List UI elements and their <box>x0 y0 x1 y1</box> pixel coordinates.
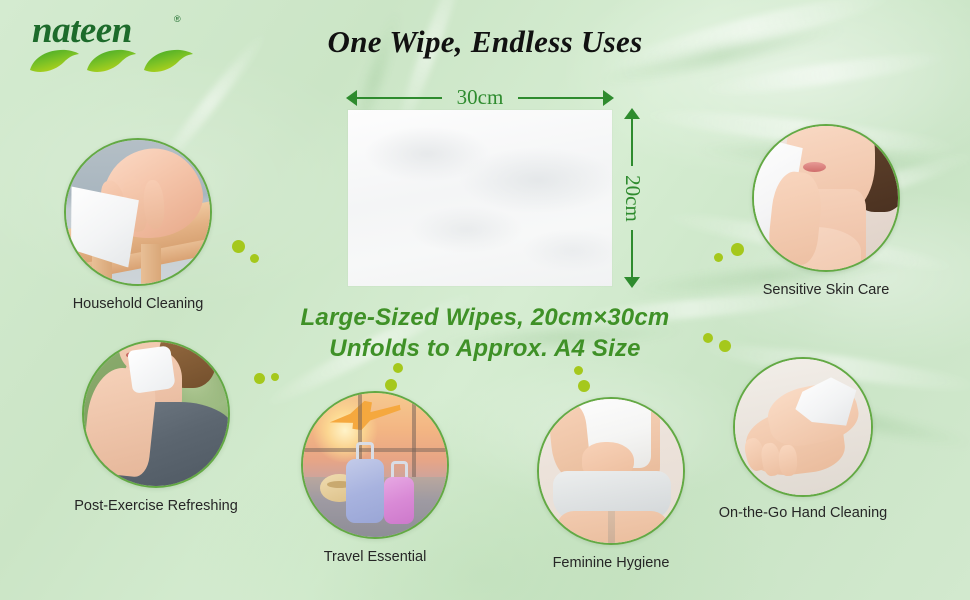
decorative-dot <box>714 253 723 262</box>
decorative-dot <box>578 380 590 392</box>
dimension-line-bottom <box>631 230 633 278</box>
arrow-right-icon <box>603 90 614 106</box>
feature-feminine-hygiene[interactable]: Feminine Hygiene <box>537 397 685 545</box>
decorative-dot <box>232 240 245 253</box>
decorative-dot <box>393 363 403 373</box>
decorative-dot <box>703 333 713 343</box>
sensitive-skin-care-photo[interactable] <box>752 124 900 272</box>
dimension-line-top <box>631 118 633 166</box>
arrow-down-icon <box>624 277 640 288</box>
width-label: 30cm <box>457 87 504 108</box>
decorative-dot <box>731 243 744 256</box>
width-dimension: 30cm <box>348 86 612 108</box>
dimension-line-right <box>518 97 604 99</box>
arrow-left-icon <box>346 90 357 106</box>
household-cleaning-photo[interactable] <box>64 138 212 286</box>
feature-travel-essential[interactable]: Travel Essential <box>301 391 449 539</box>
decorative-dot <box>385 379 397 391</box>
sensitive-skin-care-label: Sensitive Skin Care <box>686 282 966 298</box>
feature-post-exercise[interactable]: Post-Exercise Refreshing <box>82 340 230 488</box>
registered-trademark-icon: ® <box>174 14 181 24</box>
feature-household-cleaning[interactable]: Household Cleaning <box>64 138 212 286</box>
wipe-sheet-image <box>348 110 612 286</box>
height-label: 20cm <box>622 175 643 222</box>
dimension-line-left <box>356 97 442 99</box>
post-exercise-label: Post-Exercise Refreshing <box>16 498 296 514</box>
decorative-dot <box>719 340 731 352</box>
decorative-dot <box>574 366 583 375</box>
post-exercise-photo[interactable] <box>82 340 230 488</box>
decorative-dot <box>271 373 279 381</box>
travel-essential-photo[interactable] <box>301 391 449 539</box>
page-title: One Wipe, Endless Uses <box>0 24 970 60</box>
decorative-dot <box>250 254 259 263</box>
on-the-go-hand-cleaning-photo[interactable] <box>733 357 873 497</box>
height-dimension: 20cm <box>620 110 644 286</box>
feminine-hygiene-photo[interactable] <box>537 397 685 545</box>
feature-sensitive-skin-care[interactable]: Sensitive Skin Care <box>752 124 900 272</box>
on-the-go-hand-cleaning-label: On-the-Go Hand Cleaning <box>663 505 943 521</box>
arrow-up-icon <box>624 108 640 119</box>
feature-on-the-go-hand-cleaning[interactable]: On-the-Go Hand Cleaning <box>733 357 873 497</box>
feminine-hygiene-label: Feminine Hygiene <box>471 555 751 571</box>
decorative-dot <box>254 373 265 384</box>
household-cleaning-label: Household Cleaning <box>0 296 278 312</box>
infographic-canvas: nateen ® One Wipe, Endless Uses 30cm <box>0 0 970 600</box>
